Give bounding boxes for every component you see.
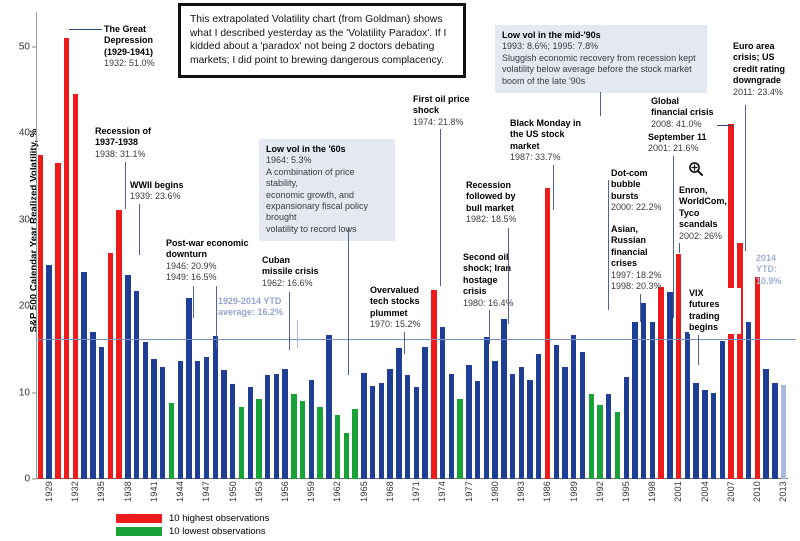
anno-title-2: tech stocks <box>370 296 446 307</box>
bar-2009 <box>737 243 742 479</box>
anno-value: 2000: 22.2% <box>611 202 673 213</box>
x-tick-1956: 1956 <box>280 481 290 502</box>
leader-recession-1937 <box>125 162 126 209</box>
legend-label-highest: 10 highest observations <box>169 513 269 524</box>
anno-title-2: financial crisis <box>651 107 731 118</box>
bar-1971 <box>405 375 410 479</box>
x-tick-2007: 2007 <box>726 481 736 502</box>
average-line <box>36 339 796 341</box>
leader-dotcom <box>608 180 609 310</box>
bar-1934 <box>81 272 86 479</box>
bar-1982 <box>501 319 506 479</box>
bar-1948 <box>204 357 209 479</box>
anno-value: 1980: 16.4% <box>463 298 529 309</box>
x-tick-1929: 1929 <box>44 481 54 502</box>
x-tick-1992: 1992 <box>595 481 605 502</box>
average-line-caption: 1929-2014 YTD average: 16.2% <box>218 296 334 319</box>
x-tick-1971: 1971 <box>411 481 421 502</box>
x-tick-1995: 1995 <box>621 481 631 502</box>
anno-title: Low vol in the '60s <box>266 144 388 155</box>
bar-1957 <box>282 369 287 479</box>
anno-body-4: volatility to record lows <box>266 224 388 235</box>
anno-body-2: economic growth, and <box>266 190 388 201</box>
bar-1977 <box>457 399 462 479</box>
bar-1950 <box>221 370 226 479</box>
leader-great-depression <box>69 29 102 30</box>
bar-1998 <box>641 303 646 479</box>
bar-2010 <box>746 322 751 479</box>
bar-1973 <box>422 347 427 479</box>
legend-swatch-red <box>116 514 162 523</box>
x-tick-1962: 1962 <box>332 481 342 502</box>
leader-tech-stocks <box>404 332 405 354</box>
bar-1930 <box>46 265 51 479</box>
y-tick-mark-50 <box>32 46 36 47</box>
bar-1994 <box>606 394 611 479</box>
annotation-great-depression: The Great Depression (1929-1941) 1932: 5… <box>104 24 178 70</box>
bar-1979 <box>475 381 480 479</box>
leader-low-vol-60s <box>348 227 349 375</box>
x-tick-1944: 1944 <box>175 481 185 502</box>
x-tick-1941: 1941 <box>149 481 159 502</box>
x-tick-1977: 1977 <box>464 481 474 502</box>
bar-1936 <box>99 347 104 479</box>
commentary-box: This extrapolated Volatility chart (from… <box>178 3 466 78</box>
annotation-recession-1982: Recession followed by bull market 1982: … <box>466 180 538 226</box>
bar-1965 <box>352 409 357 479</box>
bar-2000 <box>658 287 663 479</box>
annotation-wwii: WWII begins 1939: 23.6% <box>130 180 206 203</box>
ytd-2014-caption: 2014 YTD: 10.9% <box>756 253 800 287</box>
bar-1941 <box>143 342 148 480</box>
anno-body-3: expansionary fiscal policy brought <box>266 201 388 224</box>
leader-black-monday <box>553 165 554 210</box>
anno-title: Second oil <box>463 252 529 263</box>
bar-1991 <box>580 352 585 479</box>
x-tick-1983: 1983 <box>516 481 526 502</box>
anno-title-3: credit rating <box>733 64 797 75</box>
annotation-september-11: September 11 2001: 21.6% <box>648 132 720 155</box>
anno-title-3: hostage <box>463 275 529 286</box>
x-tick-2013: 2013 <box>778 481 788 502</box>
annotation-box-low-vol-90s: Low vol in the mid-'90s 1993: 8.6%; 1995… <box>495 25 707 93</box>
anno-title-2: Depression <box>104 35 178 46</box>
anno-title: VIX <box>689 288 741 299</box>
annotation-dotcom: Dot-com bubble bursts 2000: 22.2% <box>611 168 673 214</box>
anno-title-2: crisis; US <box>733 52 797 63</box>
annotation-euro-crisis: Euro area crisis; US credit rating downg… <box>733 41 797 98</box>
legend-item-highest: 10 highest observations <box>116 512 269 525</box>
bar-1952 <box>239 407 244 479</box>
leader-first-oil-shock <box>440 129 441 286</box>
anno-title-3: bull market <box>466 203 538 214</box>
bar-1938 <box>116 210 121 479</box>
anno-title-4: begins <box>689 322 741 333</box>
anno-value: 1964: 5.3% <box>266 155 388 166</box>
bar-1988 <box>554 345 559 479</box>
anno-value: 2001: 21.6% <box>648 143 720 154</box>
x-tick-1953: 1953 <box>254 481 264 502</box>
x-tick-1932: 1932 <box>70 481 80 502</box>
bar-1972 <box>414 387 419 479</box>
anno-title-2: bubble <box>611 179 673 190</box>
bar-1931 <box>55 163 60 479</box>
bar-2012 <box>763 369 768 479</box>
y-tick-50: 50 <box>19 41 30 52</box>
annotation-black-monday: Black Monday in the US stock market 1987… <box>510 118 598 164</box>
bar-1989 <box>562 367 567 479</box>
anno-title: Euro area <box>733 41 797 52</box>
bar-1945 <box>178 361 183 479</box>
anno-title-2: downturn <box>166 249 262 260</box>
anno-title-2: the US stock <box>510 129 598 140</box>
x-tick-1947: 1947 <box>201 481 211 502</box>
anno-value: 1946: 20.9% <box>166 261 262 272</box>
legend-label-lowest: 10 lowest observations <box>169 526 266 537</box>
bar-1929 <box>38 155 43 479</box>
anno-value: 1962: 16.6% <box>262 278 342 289</box>
bar-1963 <box>335 415 340 479</box>
bar-1947 <box>195 361 200 479</box>
x-tick-2001: 2001 <box>673 481 683 502</box>
leader-wwii <box>139 204 140 255</box>
leader-postwar-1949 <box>216 286 217 348</box>
leader-low-vol-90s <box>600 92 601 116</box>
x-tick-1974: 1974 <box>437 481 447 502</box>
anno-title-4: downgrade <box>733 75 797 86</box>
leader-recession-1982 <box>508 228 509 324</box>
annotation-postwar: Post-war economic downturn 1946: 20.9% 1… <box>166 238 262 284</box>
anno-value: 1997: 18.2% <box>611 270 679 281</box>
bar-1976 <box>449 374 454 480</box>
annotation-box-low-vol-60s: Low vol in the '60s 1964: 5.3% A combina… <box>259 139 395 241</box>
anno-body-1: A combination of price stability, <box>266 167 388 190</box>
x-tick-1959: 1959 <box>306 481 316 502</box>
anno-title: Enron, <box>679 185 739 196</box>
y-tick-30: 30 <box>19 214 30 225</box>
annotation-second-oil-shock: Second oil shock; Iran hostage crisis 19… <box>463 252 529 309</box>
annotation-asian-russian-crises: Asian, Russian financial crises 1997: 18… <box>611 224 679 292</box>
bar-2013 <box>772 383 777 479</box>
anno-title: Dot-com <box>611 168 673 179</box>
x-tick-1950: 1950 <box>228 481 238 502</box>
bar-1933 <box>73 94 78 479</box>
annotation-cuban-missile: Cuban missile crisis 1962: 16.6% <box>262 255 342 289</box>
anno-title-2: shock <box>413 105 489 116</box>
anno-title-3: Tyco <box>679 208 739 219</box>
anno-title: Global <box>651 96 731 107</box>
bar-1959 <box>300 401 305 479</box>
bar-1960 <box>309 380 314 479</box>
anno-value: 2002: 26% <box>679 231 739 242</box>
anno-title-3: (1929-1941) <box>104 47 178 58</box>
annotation-vix-futures: VIX futures trading begins <box>689 288 741 334</box>
x-tick-1968: 1968 <box>385 481 395 502</box>
chart-legend: 10 highest observations 10 lowest observ… <box>116 512 269 538</box>
legend-item-lowest: 10 lowest observations <box>116 525 269 538</box>
bar-1993 <box>597 405 602 479</box>
ytd-line1: 2014 <box>756 253 776 263</box>
anno-value: 1993: 8.6%; 1995: 7.8% <box>502 41 700 52</box>
x-tick-2004: 2004 <box>700 481 710 502</box>
y-tick-mark-20 <box>32 306 36 307</box>
x-tick-2010: 2010 <box>752 481 762 502</box>
anno-title-3: bursts <box>611 191 673 202</box>
leader-second-oil-shock <box>489 310 490 344</box>
bar-1942 <box>151 359 156 479</box>
anno-title-2: WorldCom, <box>679 196 739 207</box>
anno-value: 1987: 33.7% <box>510 152 598 163</box>
bar-1935 <box>90 332 95 479</box>
anno-body-1: Sluggish economic recovery from recessio… <box>502 53 700 64</box>
annotation-recession-1937: Recession of 1937-1938 1938: 31.1% <box>95 126 175 160</box>
y-tick-mark-40 <box>32 133 36 134</box>
bar-1980 <box>484 337 489 479</box>
leader-postwar-1946 <box>193 286 194 318</box>
bar-1946 <box>186 298 191 479</box>
anno-title-3: trading <box>689 311 741 322</box>
y-tick-mark-10 <box>32 392 36 393</box>
leader-euro-crisis <box>745 105 746 251</box>
bar-1987 <box>545 188 550 479</box>
bar-1985 <box>527 380 532 479</box>
ytd-line3: 10.9% <box>756 276 782 286</box>
bar-1996 <box>624 377 629 479</box>
anno-title-2: Russian <box>611 235 679 246</box>
bar-1953 <box>248 387 253 479</box>
leader-september-11 <box>673 156 674 318</box>
anno-title-2: shock; Iran <box>463 263 529 274</box>
bar-1955 <box>265 375 270 479</box>
anno-body-3: boom of the late '90s <box>502 76 700 87</box>
anno-title: Black Monday in <box>510 118 598 129</box>
anno-title: First oil price <box>413 94 489 105</box>
volatility-chart: S&P 500 Calendar Year Realized Volatilit… <box>0 0 800 541</box>
annotation-enron: Enron, WorldCom, Tyco scandals 2002: 26% <box>679 185 739 242</box>
anno-value: 2011: 23.4% <box>733 87 797 98</box>
average-caption-line2: average: 16.2% <box>218 307 283 317</box>
y-tick-mark-30 <box>32 219 36 220</box>
bar-1939 <box>125 275 130 479</box>
x-tick-1938: 1938 <box>123 481 133 502</box>
leader-cuban-missile <box>289 292 290 350</box>
y-tick-40: 40 <box>19 128 30 139</box>
bar-2005 <box>702 390 707 479</box>
bar-1937 <box>108 253 113 479</box>
bar-2007 <box>720 341 725 479</box>
anno-value-2: 1998: 20.3% <box>611 281 679 292</box>
bar-1966 <box>361 373 366 479</box>
bar-1958 <box>291 394 296 479</box>
bar-1990 <box>571 335 576 479</box>
anno-value: 1938: 31.1% <box>95 149 175 160</box>
bar-1995 <box>615 412 620 479</box>
anno-title: Recession <box>466 180 538 191</box>
anno-title-4: scandals <box>679 219 739 230</box>
anno-value-2: 1949: 16.5% <box>166 272 262 283</box>
bar-1951 <box>230 384 235 479</box>
bar-2003 <box>685 332 690 479</box>
bar-1943 <box>160 367 165 479</box>
anno-title-3: plummet <box>370 308 446 319</box>
anno-title: Cuban <box>262 255 342 266</box>
bar-1949 <box>213 336 218 479</box>
x-tick-1965: 1965 <box>359 481 369 502</box>
bar-1999 <box>650 322 655 479</box>
bar-1932 <box>64 38 69 479</box>
bar-1967 <box>370 386 375 479</box>
anno-title: The Great <box>104 24 178 35</box>
bar-1978 <box>466 365 471 479</box>
anno-value: 1970: 15.2% <box>370 319 446 330</box>
leader-global-financial-crisis <box>717 125 733 126</box>
y-tick-0: 0 <box>24 474 30 485</box>
anno-title-2: futures <box>689 299 741 310</box>
y-tick-10: 10 <box>19 387 30 398</box>
bar-1954 <box>256 399 261 479</box>
anno-title: Asian, <box>611 224 679 235</box>
anno-value: 1974: 21.8% <box>413 117 489 128</box>
bar-1986 <box>536 354 541 479</box>
bar-2001 <box>667 292 672 479</box>
bar-1997 <box>632 322 637 479</box>
bar-1968 <box>379 383 384 479</box>
bar-1940 <box>134 291 139 479</box>
anno-title-3: financial <box>611 247 679 258</box>
x-tick-1986: 1986 <box>542 481 552 502</box>
bar-1961 <box>317 407 322 479</box>
bar-1983 <box>510 374 515 479</box>
bar-2014 <box>781 385 786 479</box>
bar-2004 <box>693 383 698 479</box>
legend-swatch-green <box>116 527 162 536</box>
bar-1975 <box>440 327 445 479</box>
bar-1984 <box>519 367 524 479</box>
anno-title: Post-war economic <box>166 238 262 249</box>
bar-1944 <box>169 403 174 479</box>
leader-asian-crises <box>640 294 641 322</box>
anno-title-2: followed by <box>466 191 538 202</box>
y-tick-20: 20 <box>19 301 30 312</box>
anno-title-3: market <box>510 141 598 152</box>
ytd-line2: YTD: <box>756 264 777 274</box>
anno-title: September 11 <box>648 132 720 143</box>
anno-title: Overvalued <box>370 285 446 296</box>
x-tick-1980: 1980 <box>490 481 500 502</box>
anno-title: WWII begins <box>130 180 206 191</box>
bar-1956 <box>274 374 279 480</box>
y-tick-mark-0 <box>32 479 36 480</box>
average-caption-line1: 1929-2014 YTD <box>218 296 281 306</box>
anno-value: 1982: 18.5% <box>466 214 538 225</box>
bar-2006 <box>711 393 716 479</box>
anno-title-4: crises <box>611 258 679 269</box>
annotation-first-oil-shock: First oil price shock 1974: 21.8% <box>413 94 489 128</box>
average-caption-leader <box>297 320 298 348</box>
bar-1981 <box>492 361 497 479</box>
bar-1992 <box>589 394 594 479</box>
anno-title: Low vol in the mid-'90s <box>502 30 700 41</box>
bar-1970 <box>396 348 401 479</box>
anno-value: 1939: 23.6% <box>130 191 206 202</box>
annotation-tech-stocks: Overvalued tech stocks plummet 1970: 15.… <box>370 285 446 331</box>
magnifier-icon <box>688 161 704 177</box>
anno-body-2: volatility below average before the stoc… <box>502 64 700 75</box>
anno-title-4: crisis <box>463 286 529 297</box>
bar-2011 <box>755 277 760 479</box>
x-tick-1935: 1935 <box>96 481 106 502</box>
anno-value: 1932: 51.0% <box>104 58 178 69</box>
x-tick-1998: 1998 <box>647 481 657 502</box>
bar-1969 <box>387 369 392 479</box>
anno-title: Recession of <box>95 126 175 137</box>
anno-title-2: missile crisis <box>262 266 342 277</box>
anno-title-2: 1937-1938 <box>95 137 175 148</box>
bar-1962 <box>326 335 331 479</box>
x-tick-1989: 1989 <box>569 481 579 502</box>
leader-enron <box>679 243 680 253</box>
bar-1964 <box>344 433 349 479</box>
leader-vix-futures <box>698 335 699 365</box>
